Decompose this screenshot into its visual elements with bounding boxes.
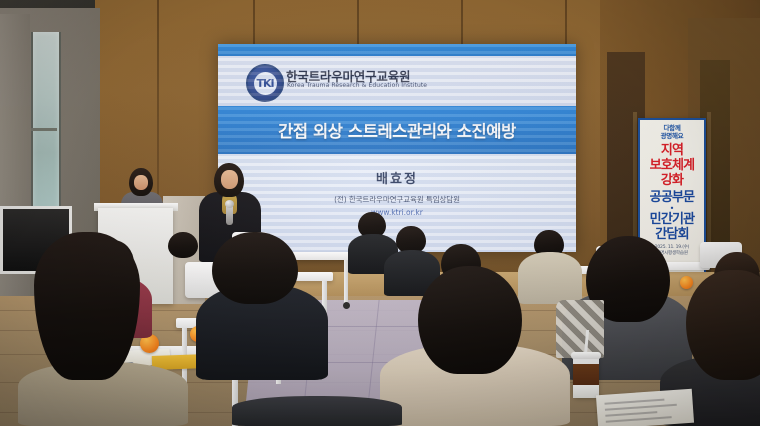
audience-head xyxy=(686,270,760,380)
seminar-room-photo: TKI 한국트라우마연구교육원 Korea Trauma Research & … xyxy=(0,0,760,426)
microphone-head-icon xyxy=(225,200,234,208)
audience-body xyxy=(518,252,582,304)
tki-logo-icon: TKI xyxy=(246,64,284,102)
projection-screen: TKI 한국트라우마연구교육원 Korea Trauma Research & … xyxy=(218,44,576,252)
banner-red-line-1: 지역 xyxy=(661,143,683,158)
handout-text-line xyxy=(605,411,657,416)
banner-top-line-1: 다함께 xyxy=(663,124,680,132)
speaker-url: www.ktri.or.kr xyxy=(218,208,576,217)
slide-title: 간접 외상 스트레스관리와 소진예방 xyxy=(218,106,576,154)
cup-lid xyxy=(571,352,601,359)
scarf-pattern xyxy=(556,300,604,358)
organization-name-english: Korea Trauma Research & Education Instit… xyxy=(287,82,427,89)
mandarin-orange xyxy=(680,276,693,289)
audience-head xyxy=(418,266,522,374)
banner-separator: • xyxy=(670,205,675,212)
banner-blue-line-1: 공공부문 xyxy=(650,190,695,205)
handout-text-line xyxy=(606,416,672,422)
desk-caster xyxy=(343,302,350,309)
speaker-name: 배효정 xyxy=(218,168,576,187)
printed-handout xyxy=(596,389,694,426)
banner-red-line-3: 강화 xyxy=(661,173,683,188)
banner-blue-line-3: 간담회 xyxy=(655,227,688,242)
audience-head xyxy=(212,232,298,304)
moderator-face xyxy=(134,175,148,190)
slide-top-accent-bar xyxy=(218,44,576,56)
window-mullion xyxy=(31,128,57,131)
audience-body xyxy=(232,396,402,426)
audience-head xyxy=(34,232,140,380)
audience-head xyxy=(168,232,198,258)
speaker-affiliation: (전) 한국트라우마연구교육원 특임상담원 xyxy=(218,194,576,205)
handout-text-line xyxy=(605,404,677,411)
banner-top-line-2: 광명해요 xyxy=(661,132,684,140)
presenter-face xyxy=(221,170,238,189)
banner-red-line-2: 보호체계 xyxy=(650,158,695,173)
handout-text-line xyxy=(604,399,664,405)
tki-logo-mark: TKI xyxy=(254,72,277,95)
banner-blue-line-2: 민간기관 xyxy=(650,212,695,227)
